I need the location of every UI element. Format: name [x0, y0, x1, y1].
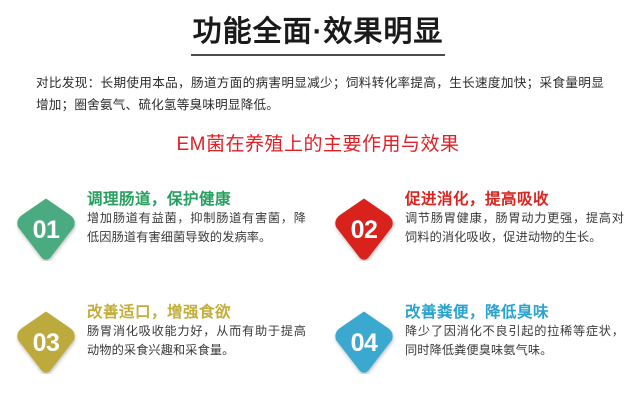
- intro-paragraph: 对比发现：长期使用本品，肠道方面的病害明显减少；饲料转化率提高，生长速度加快；采…: [36, 72, 604, 116]
- benefit-text-03: 改善适口，增强食欲 肠胃消化吸收能力好，从而有助于提高动物的采食兴趣和采食量。: [87, 304, 318, 361]
- badge-01: 01: [14, 197, 78, 261]
- benefit-title-03: 改善适口，增强食欲: [87, 304, 306, 321]
- benefit-text-02: 促进消化，提高吸收 调节肠胃健康，肠胃动力更强，提高对饲料的消化吸收，促进动物的…: [405, 191, 636, 248]
- badge-02: 02: [332, 197, 396, 261]
- benefit-item-02: 02 促进消化，提高吸收 调节肠胃健康，肠胃动力更强，提高对饲料的消化吸收，促进…: [318, 186, 636, 299]
- heading-container: 功能全面·效果明显: [0, 0, 636, 56]
- subtitle-container: EM菌在养殖上的主要作用与效果: [0, 129, 636, 156]
- badge-number-03: 03: [14, 310, 78, 374]
- benefit-text-01: 调理肠道，保护健康 增加肠道有益菌，抑制肠道有害菌，降低因肠道有害细菌导致的发病…: [87, 191, 318, 248]
- benefit-body-04: 降少了因消化不良引起的拉稀等症状，同时降低粪便臭味氨气味。: [405, 322, 624, 361]
- badge-number-02: 02: [332, 197, 396, 261]
- benefit-body-01: 增加肠道有益菌，抑制肠道有害菌，降低因肠道有害细菌导致的发病率。: [87, 209, 306, 248]
- benefit-body-03: 肠胃消化吸收能力好，从而有助于提高动物的采食兴趣和采食量。: [87, 322, 306, 361]
- badge-03: 03: [14, 310, 78, 374]
- benefit-item-01: 01 调理肠道，保护健康 增加肠道有益菌，抑制肠道有害菌，降低因肠道有害细菌导致…: [0, 186, 318, 299]
- benefit-title-01: 调理肠道，保护健康: [87, 191, 306, 208]
- page-title: 功能全面·效果明显: [191, 16, 446, 56]
- benefit-title-04: 改善粪便，降低臭味: [405, 304, 624, 321]
- badge-number-04: 04: [332, 310, 396, 374]
- poster-page: 功能全面·效果明显 对比发现：长期使用本品，肠道方面的病害明显减少；饲料转化率提…: [0, 0, 636, 412]
- benefit-item-04: 04 改善粪便，降低臭味 降少了因消化不良引起的拉稀等症状，同时降低粪便臭味氨气…: [318, 299, 636, 412]
- benefit-text-04: 改善粪便，降低臭味 降少了因消化不良引起的拉稀等症状，同时降低粪便臭味氨气味。: [405, 304, 636, 361]
- badge-number-01: 01: [14, 197, 78, 261]
- benefit-body-02: 调节肠胃健康，肠胃动力更强，提高对饲料的消化吸收，促进动物的生长。: [405, 209, 624, 248]
- benefit-grid: 01 调理肠道，保护健康 增加肠道有益菌，抑制肠道有害菌，降低因肠道有害细菌导致…: [0, 186, 636, 412]
- benefit-item-03: 03 改善适口，增强食欲 肠胃消化吸收能力好，从而有助于提高动物的采食兴趣和采食…: [0, 299, 318, 412]
- section-subtitle: EM菌在养殖上的主要作用与效果: [176, 129, 459, 156]
- badge-04: 04: [332, 310, 396, 374]
- benefit-title-02: 促进消化，提高吸收: [405, 191, 624, 208]
